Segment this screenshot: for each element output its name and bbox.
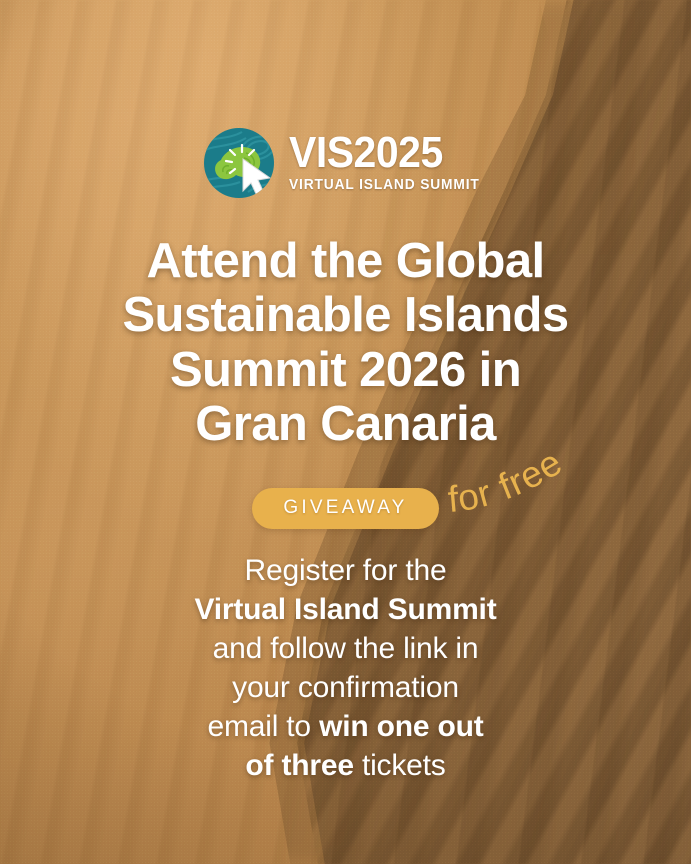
body-line-5-prefix: email to (207, 710, 319, 743)
vis-island-cursor-logo-icon (202, 126, 276, 200)
body-line-5-bold: win one out (319, 710, 483, 743)
brand-wordmark-group: VIS2025 VIRTUAL ISLAND SUMMIT (289, 132, 490, 194)
headline-line-1: Attend the Global (46, 234, 646, 288)
headline-line-3: Summit 2026 in (46, 343, 646, 397)
headline-line-4: Gran Canaria (46, 397, 646, 451)
body-line-3: and follow the link in (136, 629, 556, 668)
brand-tagline: VIRTUAL ISLAND SUMMIT (289, 177, 480, 194)
body-line-1: Register for the (136, 551, 556, 590)
body-line-4: your confirmation (136, 668, 556, 707)
body-line-2: Virtual Island Summit (136, 590, 556, 629)
headline-line-2: Sustainable Islands (46, 288, 646, 342)
brand-logo-lockup: VIS2025 VIRTUAL ISLAND SUMMIT (202, 126, 490, 200)
promo-poster: VIS2025 VIRTUAL ISLAND SUMMIT Attend the… (0, 0, 691, 864)
giveaway-badge: GIVEAWAY (252, 488, 438, 529)
brand-wordmark: VIS2025 (289, 132, 443, 174)
body-line-6-suffix: tickets (362, 749, 446, 782)
body-line-6-bold: of three (245, 749, 362, 782)
headline: Attend the Global Sustainable Islands Su… (46, 234, 646, 452)
body-line-6: of three tickets (136, 746, 556, 785)
body-copy: Register for the Virtual Island Summit a… (136, 551, 556, 785)
body-line-5: email to win one out (136, 707, 556, 746)
body-line-2-bold: Virtual Island Summit (195, 593, 497, 626)
